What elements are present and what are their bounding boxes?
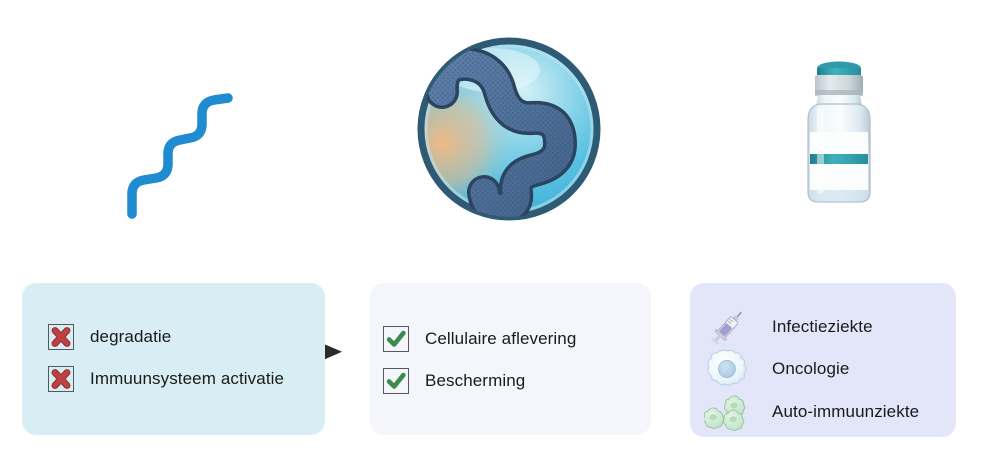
panel-clinical-applications: Infectieziekte: [690, 283, 956, 437]
list-item: Infectieziekte: [704, 305, 873, 349]
list-item: Oncologie: [704, 347, 849, 391]
autoimmune-cells-icon: [704, 390, 752, 434]
illustration-row: [0, 0, 1000, 265]
list-item: Bescherming: [383, 366, 525, 396]
list-item: Auto-immuunziekte: [704, 390, 919, 434]
immune-cell-icon: [704, 347, 752, 391]
list-item-label: Oncologie: [772, 359, 849, 379]
cross-checkbox-icon: [48, 366, 74, 392]
list-item: Cellulaire aflevering: [383, 324, 576, 354]
list-item-label: Bescherming: [425, 371, 525, 391]
check-checkbox-icon: [383, 368, 409, 394]
vaccine-vial-icon: [782, 46, 896, 216]
check-checkbox-icon: [383, 326, 409, 352]
list-item-label: Infectieziekte: [772, 317, 873, 337]
mrna-strand-icon: [110, 72, 260, 222]
list-item-label: Cellulaire aflevering: [425, 329, 576, 349]
syringe-icon: [704, 305, 752, 349]
list-item-label: degradatie: [90, 327, 171, 347]
list-item: degradatie: [48, 322, 171, 352]
list-item-label: Immuunsysteem activatie: [90, 369, 284, 389]
list-item: Immuunsysteem activatie: [48, 364, 284, 394]
list-item-label: Auto-immuunziekte: [772, 402, 919, 422]
cross-checkbox-icon: [48, 324, 74, 350]
panel-naked-mrna-problems: degradatie Immuunsysteem activatie: [22, 283, 325, 435]
lipid-nanoparticle-icon: [414, 34, 604, 224]
panel-lnp-benefits: Cellulaire aflevering Bescherming: [370, 283, 651, 435]
